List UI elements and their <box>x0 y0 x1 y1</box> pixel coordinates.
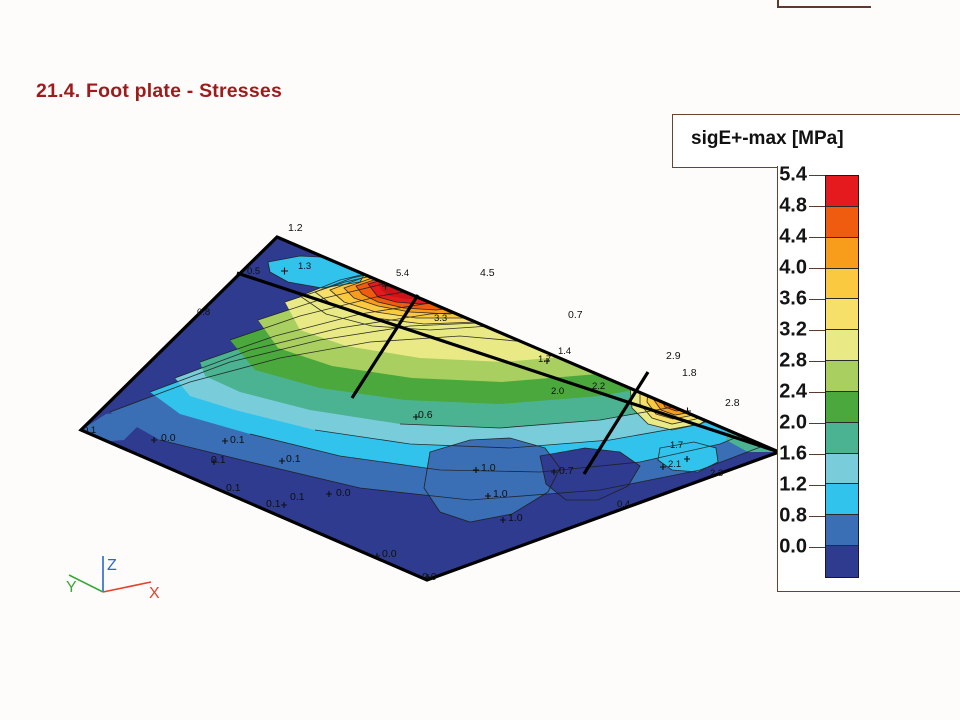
colorbar-band <box>826 515 858 546</box>
colorbar-tick-label: 1.2 <box>747 474 807 497</box>
svg-text:1.2: 1.2 <box>288 222 303 234</box>
colorbar-tick-label: 2.8 <box>747 350 807 373</box>
colorbar-band <box>826 484 858 515</box>
colorbar-band <box>826 392 858 423</box>
colorbar-tick-mark <box>809 175 825 176</box>
colorbar-tick-label: 3.2 <box>747 319 807 342</box>
colorbar-band <box>826 546 858 577</box>
colorbar-tick-mark <box>809 547 825 548</box>
svg-text:0.7: 0.7 <box>559 465 574 477</box>
colorbar-tick-mark <box>809 516 825 517</box>
colorbar-band <box>826 238 858 269</box>
colorbar-tick-label: 4.8 <box>747 195 807 218</box>
colorbar-tick-mark <box>809 206 825 207</box>
colorbar-band <box>826 361 858 392</box>
svg-text:0.5: 0.5 <box>247 266 260 277</box>
x-axis-label: X <box>149 585 160 602</box>
svg-text:0.0: 0.0 <box>161 432 176 444</box>
svg-text:1.3: 1.3 <box>298 261 311 272</box>
svg-text:0.8: 0.8 <box>197 307 210 318</box>
svg-text:1.4: 1.4 <box>558 346 571 357</box>
y-axis-label: Y <box>66 579 77 596</box>
colorbar-tick-mark <box>809 330 825 331</box>
colorbar-tick-label: 4.0 <box>747 257 807 280</box>
colorbar-tick-mark <box>809 361 825 362</box>
colorbar-tick-label: 0.0 <box>747 536 807 559</box>
axis-triad-svg: Z Y X <box>55 548 185 628</box>
colorbar-band <box>826 176 858 207</box>
colorbar-tick-label: 0.8 <box>747 505 807 528</box>
colorbar-band <box>826 207 858 238</box>
colorbar-tick-label: 5.4 <box>747 164 807 187</box>
axis-triad: Z Y X <box>55 548 185 628</box>
svg-text:4.5: 4.5 <box>480 267 495 279</box>
svg-text:0.1: 0.1 <box>226 482 241 494</box>
legend-title-box: sigE+-max [MPa] <box>672 114 960 168</box>
colorbar-tick-mark <box>809 299 825 300</box>
legend: sigE+-max [MPa] 5.44.84.44.03.63.22.82.4… <box>672 114 960 594</box>
colorbar-tick-mark <box>809 454 825 455</box>
colorbar <box>825 175 859 578</box>
colorbar-tick-mark <box>809 423 825 424</box>
legend-title: sigE+-max [MPa] <box>691 128 844 150</box>
svg-text:1.0: 1.0 <box>508 512 523 524</box>
svg-text:0.1: 0.1 <box>286 453 301 465</box>
svg-text:0.4: 0.4 <box>617 499 630 510</box>
svg-text:1.7: 1.7 <box>538 354 551 365</box>
colorbar-band <box>826 454 858 485</box>
z-axis-label: Z <box>107 557 117 574</box>
colorbar-tick-label: 2.4 <box>747 381 807 404</box>
colorbar-tick-mark <box>809 392 825 393</box>
svg-text:5.4: 5.4 <box>396 268 409 279</box>
svg-text:2.2: 2.2 <box>592 381 605 392</box>
colorbar-band <box>826 330 858 361</box>
colorbar-band <box>826 423 858 454</box>
colorbar-band <box>826 269 858 300</box>
svg-text:0.0: 0.0 <box>336 487 351 499</box>
svg-text:3.3: 3.3 <box>434 313 447 324</box>
svg-text:1.0: 1.0 <box>493 488 508 500</box>
svg-text:0.1: 0.1 <box>230 434 245 446</box>
svg-text:0.0: 0.0 <box>422 571 437 583</box>
svg-text:0.1: 0.1 <box>211 454 226 466</box>
colorbar-tick-label: 4.4 <box>747 226 807 249</box>
x-axis-line <box>103 582 151 592</box>
colorbar-band <box>826 299 858 330</box>
svg-text:0.1: 0.1 <box>290 491 305 503</box>
svg-text:0.7: 0.7 <box>568 309 583 321</box>
colorbar-wrap: 5.44.84.44.03.63.22.82.42.01.61.20.80.0 <box>825 175 859 578</box>
svg-text:0.0: 0.0 <box>382 548 397 560</box>
svg-text:2.0: 2.0 <box>551 386 564 397</box>
colorbar-tick-label: 2.0 <box>747 412 807 435</box>
colorbar-tick-mark <box>809 237 825 238</box>
colorbar-tick-mark <box>809 485 825 486</box>
svg-text:0.1: 0.1 <box>266 498 281 510</box>
svg-text:1.0: 1.0 <box>481 462 496 474</box>
svg-text:0.1: 0.1 <box>83 425 96 436</box>
colorbar-tick-mark <box>809 268 825 269</box>
svg-text:0.6: 0.6 <box>418 409 433 421</box>
colorbar-tick-label: 3.6 <box>747 288 807 311</box>
colorbar-tick-label: 1.6 <box>747 443 807 466</box>
